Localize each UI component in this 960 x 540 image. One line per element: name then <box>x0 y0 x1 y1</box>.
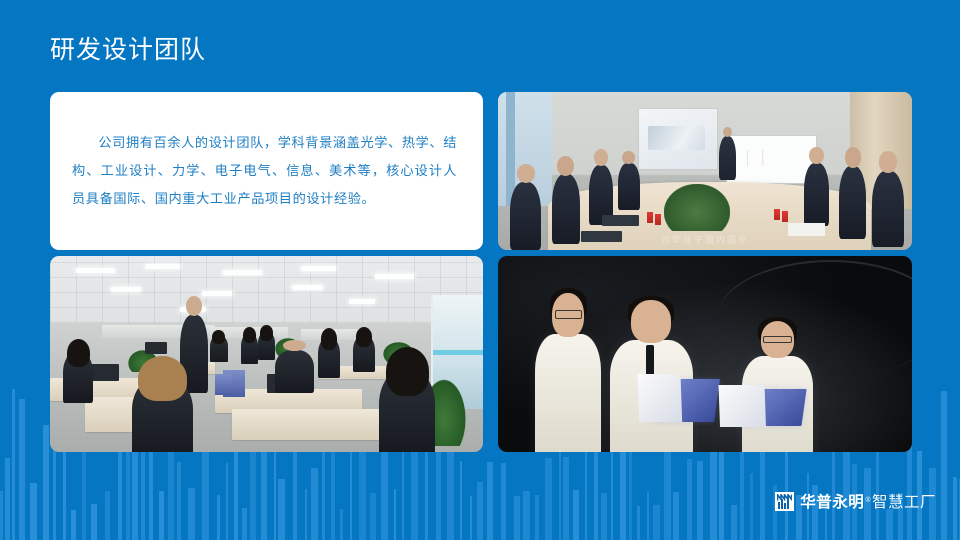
barcode-stripe <box>188 488 195 540</box>
description-text: 公司拥有百余人的设计团队，学科背景涵盖光学、热学、结构、工业设计、力学、电子电气… <box>72 129 457 213</box>
projection-screen <box>639 109 718 169</box>
barcode-stripe <box>563 457 569 540</box>
barcode-stripe <box>217 495 220 540</box>
slide-canvas: 研发设计团队 公司拥有百余人的设计团队，学科背景涵盖光学、热学、结构、工业设计、… <box>0 0 960 540</box>
barcode-stripe <box>71 510 76 540</box>
registered-mark: ® <box>865 497 871 504</box>
photo-caption: 均毕业于国内国外 <box>498 233 912 246</box>
photo-open-office <box>50 256 483 452</box>
barcode-stripe <box>340 509 343 540</box>
barcode-stripe <box>261 441 267 540</box>
barcode-stripe <box>278 479 285 540</box>
photo-meeting-room: 均毕业于国内国外 <box>498 92 912 250</box>
barcode-stripe <box>19 399 25 540</box>
barcode-stripe <box>886 509 893 540</box>
zigzag-icon <box>777 494 792 501</box>
barcode-stripe <box>673 492 679 540</box>
barcode-stripe <box>740 442 744 540</box>
barcode-stripe <box>941 391 947 540</box>
barcode-stripe <box>177 462 181 540</box>
barcode-stripe <box>653 505 660 540</box>
barcode-stripe <box>601 493 607 540</box>
barcode-stripe <box>460 461 462 540</box>
brand-logo-text: 华普永明 ® 智慧工厂 <box>800 490 936 512</box>
barcode-stripe <box>168 448 174 540</box>
barcode-stripe <box>242 508 247 540</box>
barcode-stripe <box>487 462 493 540</box>
whiteboard <box>726 135 817 184</box>
meeting-room-illustration <box>498 92 912 250</box>
barcode-stripe <box>91 504 97 540</box>
bar-chart-logo-icon <box>775 492 794 511</box>
barcode-stripe <box>545 458 552 540</box>
engineer-left <box>535 334 601 452</box>
brand-name: 华普永明 <box>800 490 864 512</box>
barcode-stripe <box>43 425 49 540</box>
folder-right <box>735 389 806 426</box>
brand-logo: 华普永明 ® 智慧工厂 <box>775 490 936 512</box>
barcode-stripe <box>477 482 483 540</box>
barcode-stripe <box>629 449 632 540</box>
presenter-figure <box>719 136 736 180</box>
barcode-stripe <box>82 449 86 540</box>
barcode-stripe <box>573 490 579 540</box>
barcode-stripe <box>12 389 15 540</box>
barcode-stripe <box>202 439 209 540</box>
barcode-stripe <box>305 489 307 540</box>
barcode-stripe <box>953 477 957 540</box>
lab-engineers-illustration <box>498 256 912 452</box>
barcode-stripe <box>105 491 110 540</box>
barcode-stripe <box>370 493 376 540</box>
barcode-stripe <box>501 463 506 540</box>
barcode-stripe <box>159 491 164 540</box>
barcode-stripe <box>470 496 472 540</box>
barcode-stripe <box>637 506 640 540</box>
barcode-stripe <box>647 492 649 540</box>
sub-brand-name: 智慧工厂 <box>872 490 936 512</box>
barcode-stripe <box>687 459 692 540</box>
barcode-stripe <box>30 483 37 540</box>
barcode-stripe <box>0 491 3 540</box>
open-office-illustration <box>50 256 483 452</box>
folder-center <box>652 379 720 422</box>
barcode-stripe <box>750 473 753 540</box>
barcode-stripe <box>535 495 539 540</box>
page-title: 研发设计团队 <box>50 34 206 66</box>
barcode-stripe <box>311 468 318 540</box>
barcode-stripe <box>514 496 520 540</box>
description-card: 公司拥有百余人的设计团队，学科背景涵盖光学、热学、结构、工业设计、力学、电子电气… <box>50 92 483 250</box>
barcode-stripe <box>731 505 737 540</box>
barcode-stripe <box>394 489 396 540</box>
barcode-stripe <box>523 491 530 540</box>
barcode-stripe <box>5 458 10 540</box>
photo-lab-engineers <box>498 256 912 452</box>
barcode-stripe <box>226 463 228 540</box>
content-grid: 公司拥有百余人的设计团队，学科背景涵盖光学、热学、结构、工业设计、力学、电子电气… <box>50 92 912 452</box>
barcode-stripe <box>697 461 703 540</box>
